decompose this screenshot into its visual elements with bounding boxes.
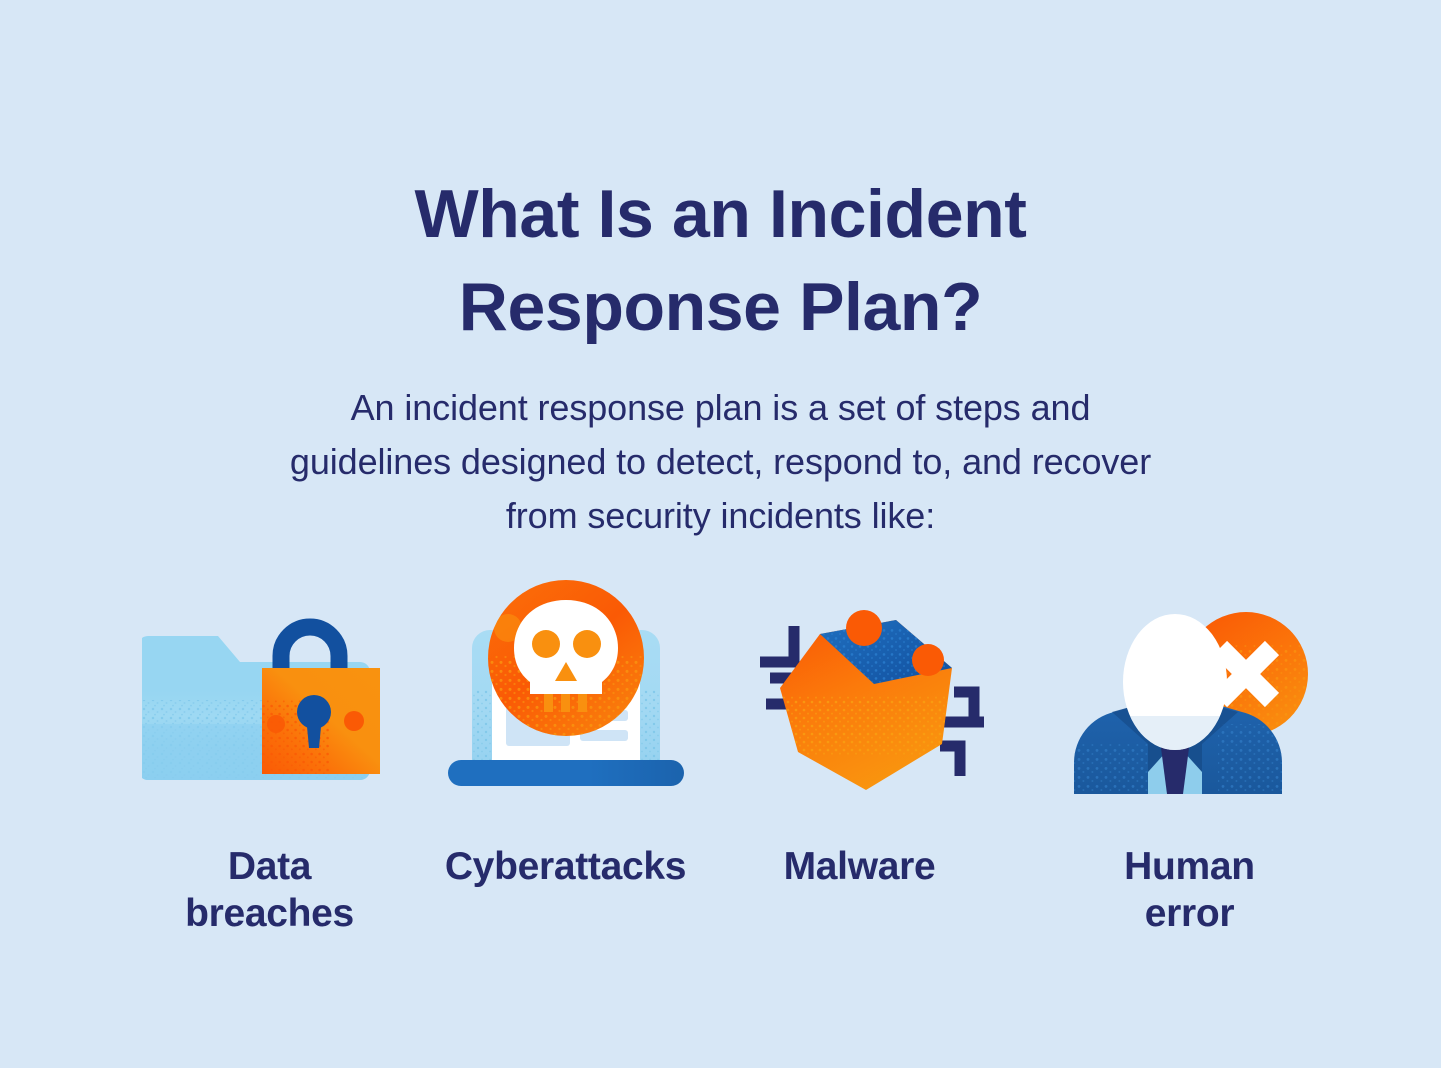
label-line-1: Cyberattacks	[445, 843, 686, 890]
skull-eye-right	[573, 630, 601, 658]
bug-antenna-dot-right	[912, 644, 944, 676]
page-title-line-2: Response Plan?	[0, 261, 1441, 354]
incident-card-cyberattacks: Cyberattacks	[420, 560, 720, 980]
label-line-2: error	[1124, 890, 1255, 937]
description-line-2: guidelines designed to detect, respond t…	[0, 435, 1441, 489]
page-title-line-1: What Is an Incident	[0, 168, 1441, 261]
skull-tooth	[578, 694, 587, 712]
label-line-1: Human	[1124, 843, 1255, 890]
skull-tooth	[561, 694, 570, 712]
incident-card-label-human-error: Human error	[1124, 843, 1255, 937]
bug-icon	[746, 604, 1006, 849]
description-line-3: from security incidents like:	[0, 489, 1441, 543]
incident-card-data-breaches: Data breaches	[128, 560, 428, 980]
label-line-1: Malware	[784, 843, 936, 890]
incident-card-label-cyberattacks: Cyberattacks	[445, 843, 686, 890]
bug-antenna-dot-left	[846, 610, 882, 646]
person-error-icon	[1068, 604, 1328, 849]
padlock-body	[260, 668, 380, 776]
incident-type-list: Data breaches	[0, 560, 1441, 980]
label-line-1: Data	[185, 843, 354, 890]
laptop-skull-icon	[436, 570, 696, 815]
skull-tooth	[544, 694, 553, 712]
page-title: What Is an Incident Response Plan?	[0, 168, 1441, 354]
description-line-1: An incident response plan is a set of st…	[0, 381, 1441, 435]
incident-card-label-data-breaches: Data breaches	[185, 843, 354, 937]
label-line-2: breaches	[185, 890, 354, 937]
incident-card-malware: Malware	[716, 560, 1016, 980]
folder-open-padlock-icon	[142, 608, 402, 853]
incident-card-human-error: Human error	[1022, 560, 1322, 980]
laptop-base	[448, 760, 684, 786]
skull-eye-left	[532, 630, 560, 658]
infographic-poster: What Is an Incident Response Plan? An in…	[0, 0, 1441, 1068]
description-text: An incident response plan is a set of st…	[0, 381, 1441, 543]
incident-card-label-malware: Malware	[784, 843, 936, 890]
